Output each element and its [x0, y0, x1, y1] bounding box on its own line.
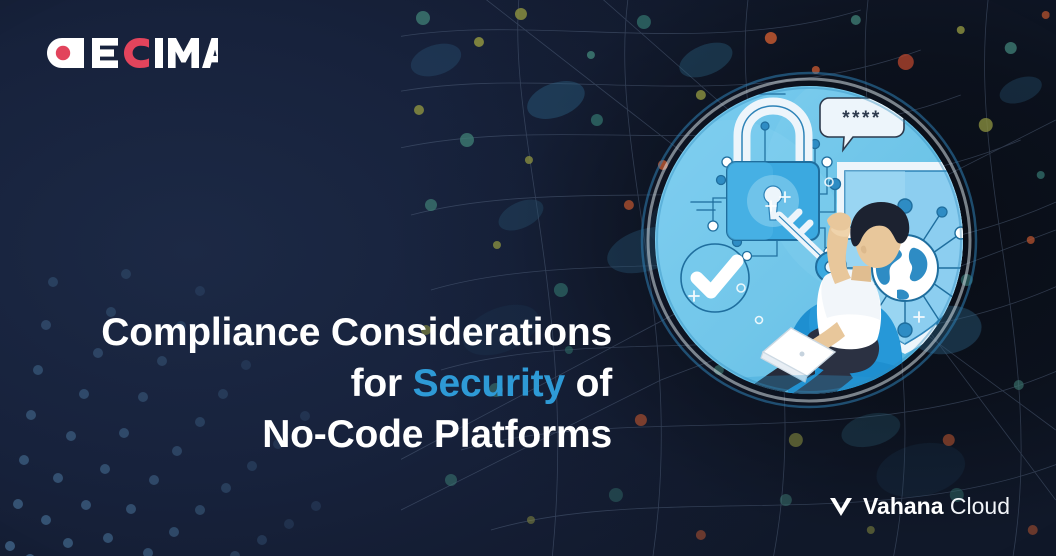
cloud-word-text: Cloud — [950, 493, 1010, 519]
decimal-logo[interactable] — [46, 36, 218, 70]
headline-line-3: No-Code Platforms — [30, 410, 612, 461]
headline-accent-security: Security — [413, 362, 565, 405]
vahana-cloud-label: Vahana Cloud — [863, 495, 1010, 518]
headline-line-2-suffix: of — [565, 362, 612, 405]
v-chevron-icon — [828, 496, 854, 518]
headline-line-2-prefix: for — [351, 362, 413, 405]
headline-line-1: Compliance Considerations — [30, 308, 612, 359]
headline-line-2: for Security of — [30, 359, 612, 410]
marketing-banner: Compliance Considerations for Security o… — [0, 0, 1056, 556]
logo-red-dot — [56, 46, 70, 60]
headline: Compliance Considerations for Security o… — [30, 308, 612, 460]
speech-bubble-text: **** — [842, 108, 882, 129]
decimal-logo-graphic — [46, 36, 218, 70]
vahana-cloud-logo[interactable]: Vahana Cloud — [828, 495, 1010, 518]
logo-letter-c — [124, 38, 149, 68]
security-illustration: **** — [639, 70, 979, 410]
security-illustration-graphic: **** — [639, 70, 979, 410]
logo-letter-e — [92, 38, 118, 68]
shoe-front — [763, 408, 807, 410]
logo-letters-imal — [155, 38, 218, 68]
vahana-word: Vahana — [863, 493, 944, 519]
